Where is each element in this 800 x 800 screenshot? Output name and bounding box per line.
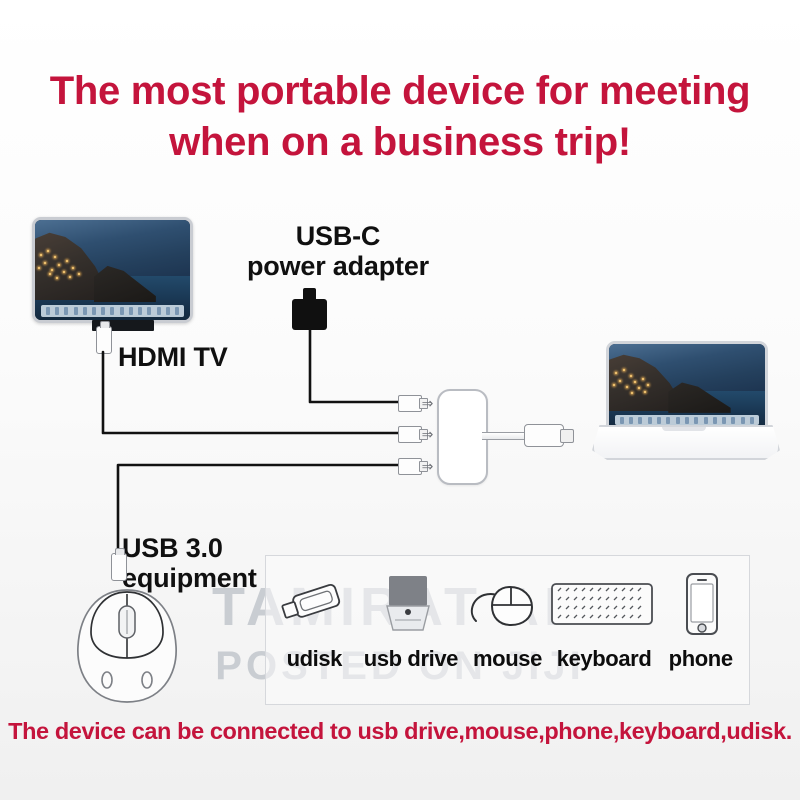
phone-icon: [682, 572, 722, 636]
hdmi-connector: [96, 326, 112, 354]
laptop-screen-dock: [615, 415, 759, 425]
port-arrow-top: ⇒: [420, 398, 435, 409]
laptop-device: [592, 341, 776, 456]
panel-label-phone: phone: [652, 646, 749, 672]
usb-c-hub-device: [437, 389, 488, 485]
headline-text: The most portable device for meeting whe…: [0, 66, 800, 168]
hdmi-tv-label: HDMI TV: [118, 342, 228, 372]
usb-drive-icon: [375, 574, 441, 634]
panel-label-udisk: udisk: [266, 646, 363, 672]
panel-label-row: udisk usb drive mouse keyboard phone: [266, 646, 749, 686]
supported-devices-panel: udisk usb drive mouse keyboard phone: [265, 555, 750, 705]
usb-c-power-adapter-icon: [292, 299, 327, 330]
port-arrow-middle: ⇒: [420, 429, 435, 440]
panel-icon-row: [266, 568, 749, 640]
power-adapter-label: USB-C power adapter: [247, 221, 429, 281]
tv-screen-wallpaper: [35, 220, 190, 320]
keyboard-icon: [550, 580, 654, 628]
usb-c-connector-tip: [560, 429, 574, 443]
panel-label-usb-drive: usb drive: [363, 646, 460, 672]
hdmi-tv-device: [32, 217, 193, 323]
panel-cell-udisk: [266, 582, 361, 626]
panel-cell-usb-drive: [361, 574, 456, 634]
usb-c-connector-head: [524, 424, 564, 447]
panel-cell-mouse: [456, 579, 551, 629]
infographic-canvas: The most portable device for meeting whe…: [0, 0, 800, 800]
wallpaper-town-lights: [35, 236, 119, 296]
wallpaper-town-lights: [609, 357, 693, 407]
hub-output-cable: [482, 432, 528, 440]
port-arrow-bottom: ⇒: [420, 461, 435, 472]
udisk-icon: [277, 582, 349, 626]
laptop-trackpad-notch: [662, 427, 706, 431]
panel-label-mouse: mouse: [459, 646, 556, 672]
panel-label-keyboard: keyboard: [556, 646, 653, 672]
footer-caption: The device can be connected to usb drive…: [0, 718, 800, 745]
laptop-wallpaper: [609, 344, 765, 428]
panel-cell-phone: [654, 572, 749, 636]
laptop-screen: [606, 341, 768, 431]
panel-cell-keyboard: [550, 580, 654, 628]
mouse-icon: [466, 579, 540, 629]
power-cable: [310, 330, 405, 402]
tv-screen-dock: [41, 305, 184, 317]
